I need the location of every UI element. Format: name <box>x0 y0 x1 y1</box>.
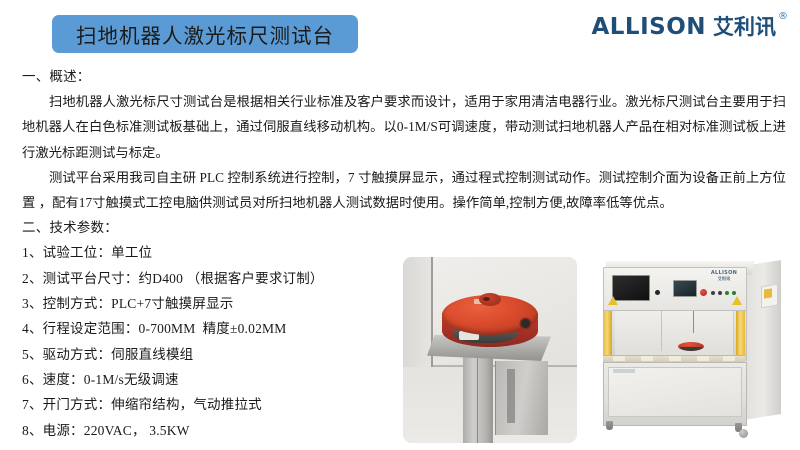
cabinet-rail-segment <box>669 356 681 361</box>
photo-support-post <box>463 357 493 443</box>
cabinet-brand-logo-cn: 艾利讯 <box>707 276 741 282</box>
cabinet-indicator-3 <box>725 291 729 295</box>
page-header: 扫地机器人激光标尺测试台 ALLISON 艾利讯 ® <box>0 0 800 64</box>
logo-text-en: ALLISON <box>591 14 706 40</box>
overview-heading: 一、概述： <box>22 64 800 89</box>
cabinet-indicator-2 <box>718 291 722 295</box>
cabinet-lower-panel <box>608 367 742 417</box>
cabinet-rail-segment <box>613 356 625 361</box>
cabinet-side-warning-icon <box>764 288 772 298</box>
cabinet-warning-label-left-icon <box>608 296 618 305</box>
photo-side-panel <box>495 361 548 435</box>
cabinet-nameplate <box>613 369 635 373</box>
page-title: 扫地机器人激光标尺测试台 <box>76 19 334 49</box>
cabinet-chamber-backwall <box>615 311 734 355</box>
cabinet-foot-left <box>606 421 613 430</box>
cabinet-touchscreen-hmi <box>673 280 697 297</box>
overview-paragraph-1: 扫地机器人激光标尺寸测试台是根据相关行业标准及客户要求而设计，适用于家用清洁电器… <box>22 89 786 165</box>
cabinet-pillar-left <box>603 309 612 361</box>
title-banner: 扫地机器人激光标尺测试台 <box>52 15 358 53</box>
cabinet-brand-logo: ALLISON 艾利讯 <box>707 270 741 282</box>
cabinet-emergency-stop-button <box>700 289 707 296</box>
photo-robot-lidar-window <box>483 297 490 301</box>
cabinet-rail-segment <box>641 356 653 361</box>
cabinet-rail-segment <box>723 356 735 361</box>
cabinet-rail-segment <box>697 356 709 361</box>
photo-robot-side-sensor <box>521 319 530 328</box>
logo-text-cn: 艾利讯 <box>713 14 776 40</box>
photo-test-cabinet: ALLISON 艾利讯 <box>589 253 783 445</box>
photo-robot-on-platform <box>403 257 577 443</box>
cabinet-pillar-right <box>736 309 745 361</box>
photo-post-edge <box>477 357 478 443</box>
registered-trademark-icon: ® <box>778 12 788 22</box>
cabinet-hanging-wire <box>693 311 694 333</box>
cabinet-knob <box>655 290 660 295</box>
cabinet-chamber-divider <box>661 311 662 351</box>
cabinet-indicator-4 <box>732 291 736 295</box>
overview-paragraph-2: 测试平台采用我司自主研 PLC 控制系统进行控制，7 寸触摸屏显示，通过程式控制… <box>22 165 786 216</box>
photo-side-panel-slot <box>507 369 515 423</box>
company-logo: ALLISON 艾利讯 ® <box>591 14 788 46</box>
cabinet-caster-wheel <box>739 429 748 438</box>
specs-heading: 二、技术参数： <box>22 215 800 240</box>
cabinet-indicator-1 <box>711 291 715 295</box>
cabinet-warning-label-right-icon <box>732 296 742 305</box>
